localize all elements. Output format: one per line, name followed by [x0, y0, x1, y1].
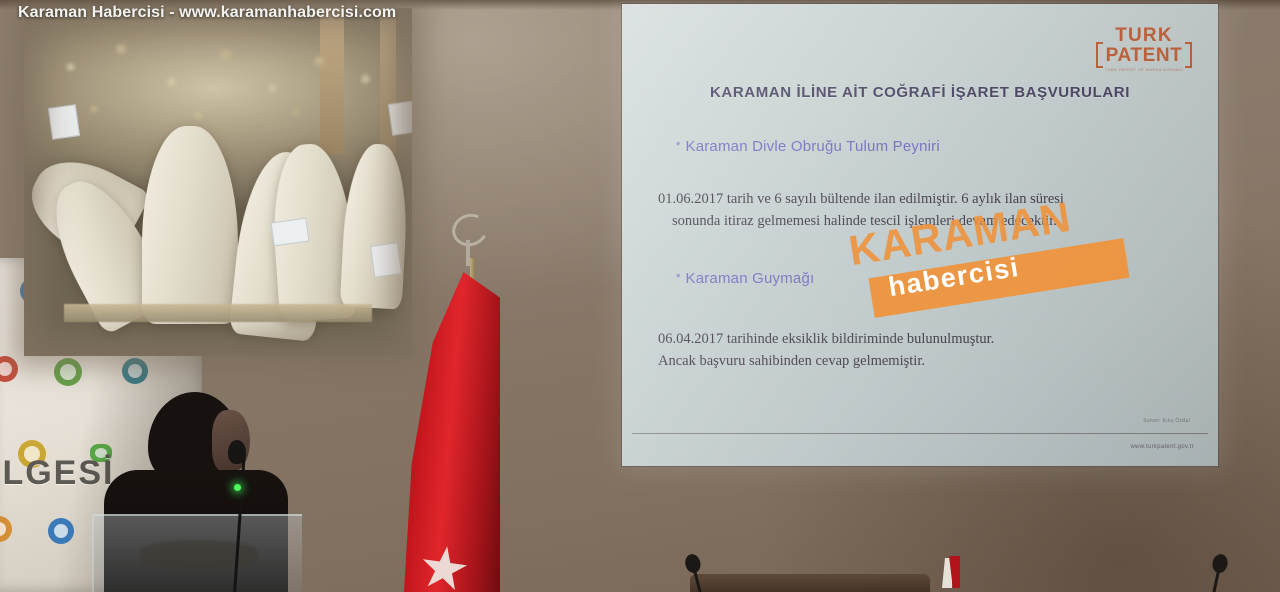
panel-table: [690, 574, 930, 592]
paragraph-line: Ancak başvuru sahibinden cevap gelmemişt…: [658, 350, 1198, 372]
slide-bullet-heading-2: *Karaman Guymağı: [676, 270, 814, 287]
slide-title: KARAMAN İLİNE AİT COĞRAFİ İŞARET BAŞVURU…: [622, 84, 1218, 101]
bullet-marker-icon: *: [676, 272, 680, 284]
microphone-icon: [228, 440, 246, 464]
paragraph-line: 01.06.2017 tarih ve 6 sayılı bültende il…: [658, 188, 1198, 210]
product-label-tag: [388, 100, 412, 136]
wooden-shelf: [64, 304, 372, 322]
product-label-tag: [48, 104, 80, 140]
bullet-heading-text: Karaman Guymağı: [685, 270, 814, 287]
projected-slide: TURK PATENT TÜRK PATENT VE MARKA KURUMU …: [622, 4, 1218, 466]
desk-mini-flag: [942, 556, 960, 588]
paragraph-line: 06.04.2017 tarihinde eksiklik bildirimin…: [658, 328, 1198, 350]
slide-paragraph-1: 01.06.2017 tarih ve 6 sayılı bültende il…: [658, 188, 1198, 233]
slide-footer-url: www.turkpatent.gov.tr: [1130, 444, 1194, 450]
microphone-led-indicator: [234, 484, 241, 491]
flag-star-icon: ★: [414, 537, 474, 592]
logo-line-patent: PATENT: [1099, 46, 1190, 65]
product-label-tag: [271, 218, 310, 247]
slide-light-falloff: [622, 4, 1218, 466]
slide-author-credit: Sunan: Kılıç Özdal: [1143, 418, 1190, 424]
site-watermark-header: Karaman Habercisi - www.karamanhabercisi…: [18, 4, 396, 22]
logo-tagline: TÜRK PATENT VE MARKA KURUMU: [1096, 68, 1192, 72]
bullet-heading-text: Karaman Divle Obruğu Tulum Peyniri: [685, 138, 939, 155]
inset-photo-cheese-cave: [24, 8, 412, 356]
product-label-tag: [370, 242, 402, 278]
turk-patent-logo: TURK PATENT TÜRK PATENT VE MARKA KURUMU: [1096, 26, 1192, 72]
bullet-marker-icon: *: [676, 140, 680, 152]
screenshot-root: ÖLGESİ ★: [0, 0, 1280, 592]
slide-bullet-heading-1: *Karaman Divle Obruğu Tulum Peyniri: [676, 138, 940, 155]
slide-paragraph-2: 06.04.2017 tarihinde eksiklik bildirimin…: [658, 328, 1198, 373]
lectern-notes: [140, 540, 258, 570]
logo-line-turk: TURK: [1096, 26, 1192, 45]
slide-footer-divider: [632, 433, 1208, 434]
paragraph-line: sonunda itiraz gelmemesi halinde tescil …: [658, 210, 1198, 232]
